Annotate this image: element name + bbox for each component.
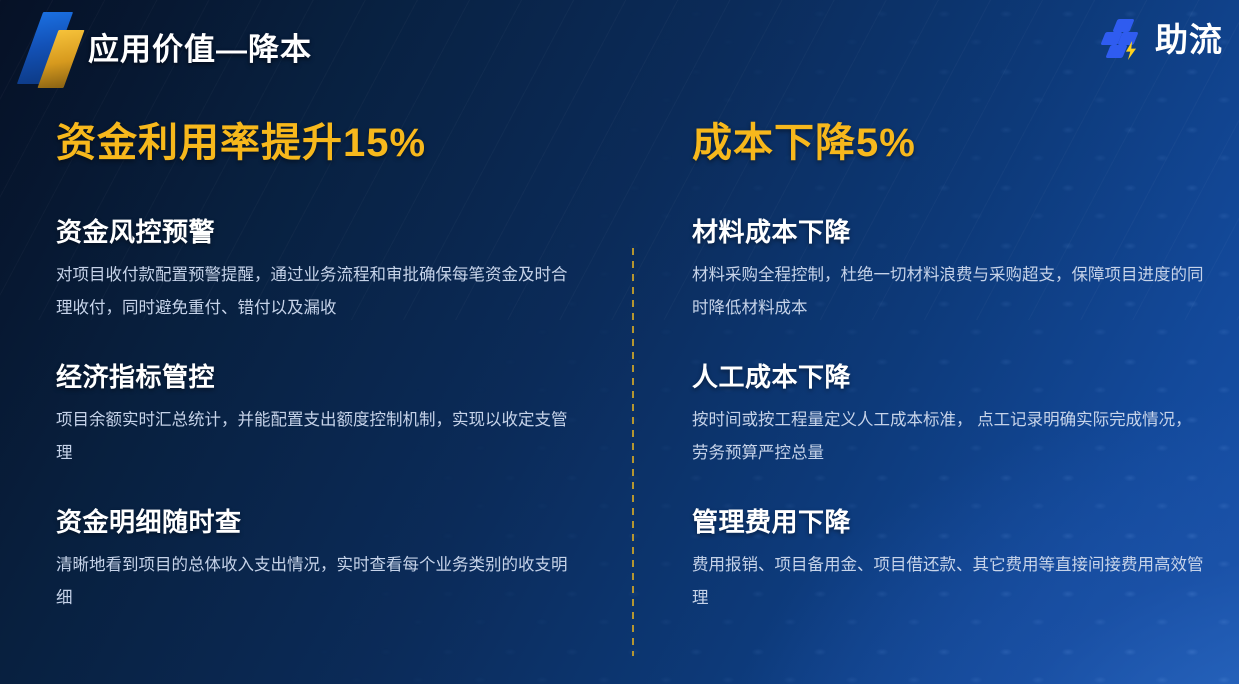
slanted-bars-logo-icon — [14, 4, 88, 90]
feature-block: 管理费用下降 费用报销、项目备用金、项目借还款、其它费用等直接间接费用高效管理 — [692, 502, 1232, 615]
feature-body: 材料采购全程控制，杜绝一切材料浪费与采购超支，保障项目进度的同时降低材料成本 — [692, 259, 1208, 325]
brand-logo: 助流 — [1099, 18, 1223, 60]
feature-body: 清晰地看到项目的总体收入支出情况，实时查看每个业务类别的收支明细 — [56, 549, 572, 615]
feature-title: 材料成本下降 — [692, 212, 1232, 249]
brand-parallelogram-3 — [1117, 32, 1138, 45]
column-heading: 资金利用率提升15% — [56, 110, 596, 168]
brand-parallelogram-1 — [1112, 19, 1134, 32]
column-heading: 成本下降5% — [692, 110, 1232, 168]
feature-body: 项目余额实时汇总统计，并能配置支出额度控制机制，实现以收定支管理 — [56, 404, 572, 470]
slide: 应用价值—降本 助流 资金利用率提升15% 资金风控预警 对项目收付款配置预警提… — [0, 0, 1239, 684]
feature-title: 资金风控预警 — [56, 212, 596, 249]
content-columns: 资金利用率提升15% 资金风控预警 对项目收付款配置预警提醒，通过业务流程和审批… — [0, 110, 1239, 684]
feature-block: 材料成本下降 材料采购全程控制，杜绝一切材料浪费与采购超支，保障项目进度的同时降… — [692, 212, 1232, 325]
column-funds-utilization: 资金利用率提升15% 资金风控预警 对项目收付款配置预警提醒，通过业务流程和审批… — [56, 110, 596, 647]
feature-title: 资金明细随时查 — [56, 502, 596, 539]
feature-block: 人工成本下降 按时间或按工程量定义人工成本标准， 点工记录明确实际完成情况， 劳… — [692, 357, 1232, 470]
feature-body: 对项目收付款配置预警提醒，通过业务流程和审批确保每笔资金及时合理收付，同时避免重… — [56, 259, 572, 325]
slide-header: 应用价值—降本 助流 — [0, 0, 1239, 94]
column-cost-reduction: 成本下降5% 材料成本下降 材料采购全程控制，杜绝一切材料浪费与采购超支，保障项… — [692, 110, 1232, 647]
feature-title: 管理费用下降 — [692, 502, 1232, 539]
feature-body: 费用报销、项目备用金、项目借还款、其它费用等直接间接费用高效管理 — [692, 549, 1208, 615]
feature-body: 按时间或按工程量定义人工成本标准， 点工记录明确实际完成情况， 劳务预算严控总量 — [692, 404, 1208, 470]
parallelogram-stack-icon — [1099, 18, 1145, 60]
feature-title: 人工成本下降 — [692, 357, 1232, 394]
brand-parallelogram-4 — [1105, 45, 1127, 58]
feature-block: 资金风控预警 对项目收付款配置预警提醒，通过业务流程和审批确保每笔资金及时合理收… — [56, 212, 596, 325]
page-title: 应用价值—降本 — [88, 24, 312, 69]
feature-block: 经济指标管控 项目余额实时汇总统计，并能配置支出额度控制机制，实现以收定支管理 — [56, 357, 596, 470]
brand-name: 助流 — [1155, 23, 1223, 56]
feature-block: 资金明细随时查 清晰地看到项目的总体收入支出情况，实时查看每个业务类别的收支明细 — [56, 502, 596, 615]
feature-title: 经济指标管控 — [56, 357, 596, 394]
